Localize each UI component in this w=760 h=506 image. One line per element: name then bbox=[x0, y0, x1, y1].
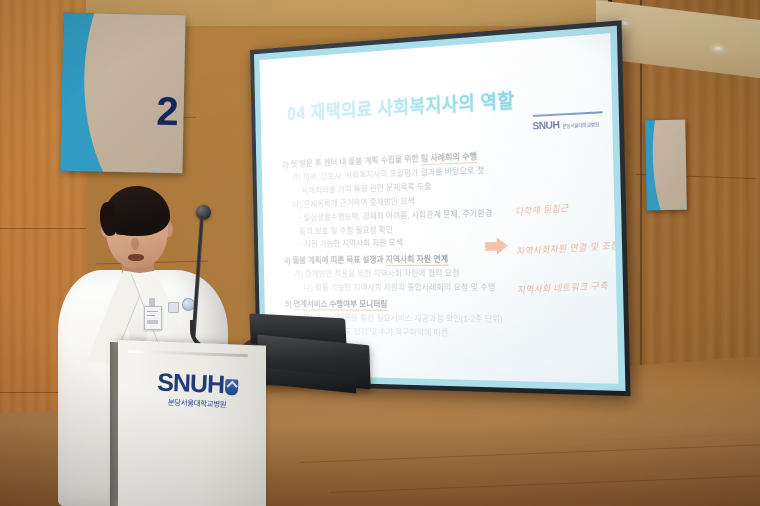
slide-body-line: 가) 중재방안 적용을 위한 지역사회 자원에 협력 요청 bbox=[294, 266, 526, 281]
podium bbox=[118, 340, 266, 506]
slide-line-text: 4) 돌봄 계획에 따른 목표 설정과 bbox=[284, 255, 386, 265]
slide-logo-mark: SNUH bbox=[532, 119, 559, 132]
slide-line-underlined: 지역사회 자원 연계 bbox=[386, 255, 449, 267]
annotation-line-2: 지역사회자원 연결 및 조정 bbox=[516, 238, 620, 258]
slide-logo-rule bbox=[533, 111, 603, 117]
pocket-emblem-icon bbox=[168, 302, 179, 313]
slide-title: 04 재택의료 사회복지사의 역할 bbox=[287, 85, 515, 125]
slide-line-underlined: 연계서비스 수행여부 모니터링 bbox=[293, 299, 387, 310]
hall-banner-right bbox=[645, 120, 687, 211]
id-badge bbox=[144, 306, 162, 330]
slide-brand-logo: SNUH 분당서울대학교병원 bbox=[532, 117, 599, 132]
slide-body-line: 나) 활용 가능한 지역사회 자원과 통합사례회의 요청 및 수행 bbox=[304, 281, 527, 295]
annotation-line-3: 지역사회 네트워크 구축 bbox=[516, 278, 608, 296]
annotation-line-1: 다학제 팀접근 bbox=[515, 200, 569, 217]
hall-banner-left: 2 bbox=[60, 13, 185, 174]
podium-brand-logo: SNUH 분당서울대학교병원 bbox=[156, 370, 238, 410]
slide-line-text: 5) bbox=[285, 299, 294, 308]
presentation-photo: 2 04 재택의료 사회복지사의 역할 SNUH 분당서울대학교병원 3) 첫 … bbox=[0, 0, 760, 506]
nose bbox=[131, 238, 139, 250]
banner-year-text: 2 bbox=[156, 92, 178, 132]
shield-icon bbox=[225, 379, 239, 395]
slide-logo-sub: 분당서울대학교병원 bbox=[562, 121, 599, 130]
ceiling-light-icon bbox=[712, 44, 725, 53]
slide-body-line: 5) 연계서비스 수행여부 모니터링 bbox=[285, 298, 527, 313]
podium-logo-mark: SNUH bbox=[157, 370, 225, 398]
mouth bbox=[128, 254, 144, 261]
